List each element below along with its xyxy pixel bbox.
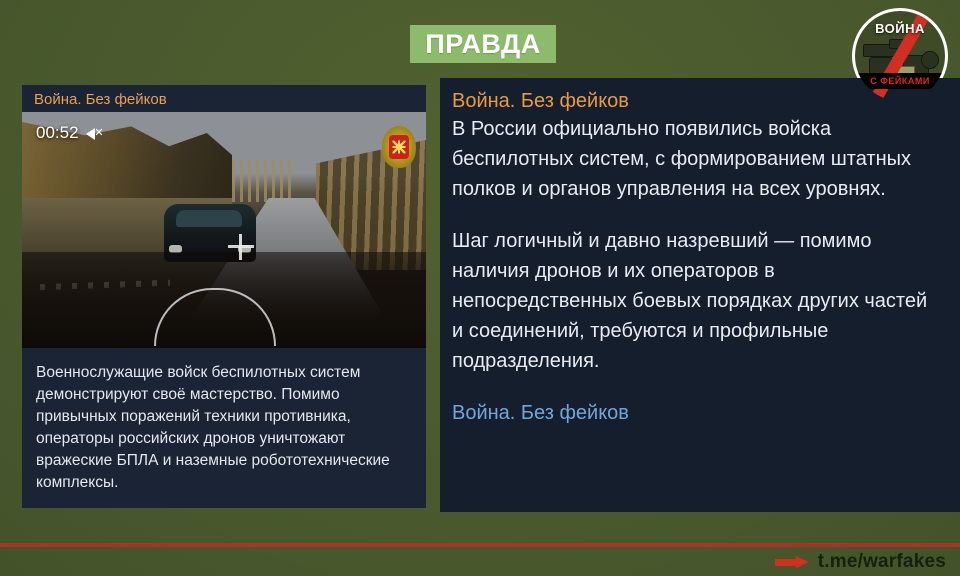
left-card-caption: Военнослужащие войск беспилотных систем …: [22, 348, 426, 504]
logo-lens-icon: [921, 51, 939, 69]
mute-cross: ✕: [94, 129, 103, 138]
muted-speaker-icon[interactable]: ✕: [86, 126, 104, 141]
left-card-header: Война. Без фейков: [22, 85, 426, 112]
right-post-panel: Война. Без фейков В России официально по…: [440, 78, 960, 512]
left-post-card: Война. Без фейков 00:52 ✕: [22, 85, 426, 508]
verdict-badge: ПРАВДА: [410, 25, 556, 63]
right-panel-signature[interactable]: Война. Без фейков: [452, 402, 942, 425]
footer-link[interactable]: t.me/warfakes: [775, 551, 946, 573]
paragraph-spacer: [452, 204, 942, 226]
logo-top-text: ВОЙНА: [855, 21, 945, 36]
screenshot-root: ПРАВДА ВОЙНА С ФЕЙКАМИ Война. Без фейков: [0, 0, 960, 576]
arrow-shaft: [775, 559, 797, 566]
arrow-right-icon: [775, 556, 809, 568]
right-paragraph-1: В России официально появились войска бес…: [452, 114, 942, 204]
verdict-badge-label: ПРАВДА: [425, 31, 540, 58]
crosshair-icon: [228, 234, 254, 260]
logo-banner: С ФЕЙКАМИ: [855, 73, 945, 89]
video-duration-overlay: 00:52 ✕: [36, 123, 104, 143]
military-unit-emblem-icon: [382, 126, 416, 168]
right-channel-name: Война. Без фейков: [452, 88, 942, 114]
video-duration-label: 00:52: [36, 123, 79, 143]
right-paragraph-2: Шаг логичный и давно назревший — помимо …: [452, 226, 942, 376]
video-thumbnail[interactable]: 00:52 ✕: [22, 112, 426, 348]
left-channel-name: Война. Без фейков: [34, 91, 167, 108]
logo-banner-text: С ФЕЙКАМИ: [870, 76, 930, 86]
emblem-star-core: [389, 135, 409, 159]
video-fence: [232, 160, 294, 202]
footer-url-label[interactable]: t.me/warfakes: [818, 551, 946, 573]
arrow-head: [796, 556, 809, 568]
footer-divider: [0, 543, 960, 547]
speaker-cone: [86, 128, 95, 140]
